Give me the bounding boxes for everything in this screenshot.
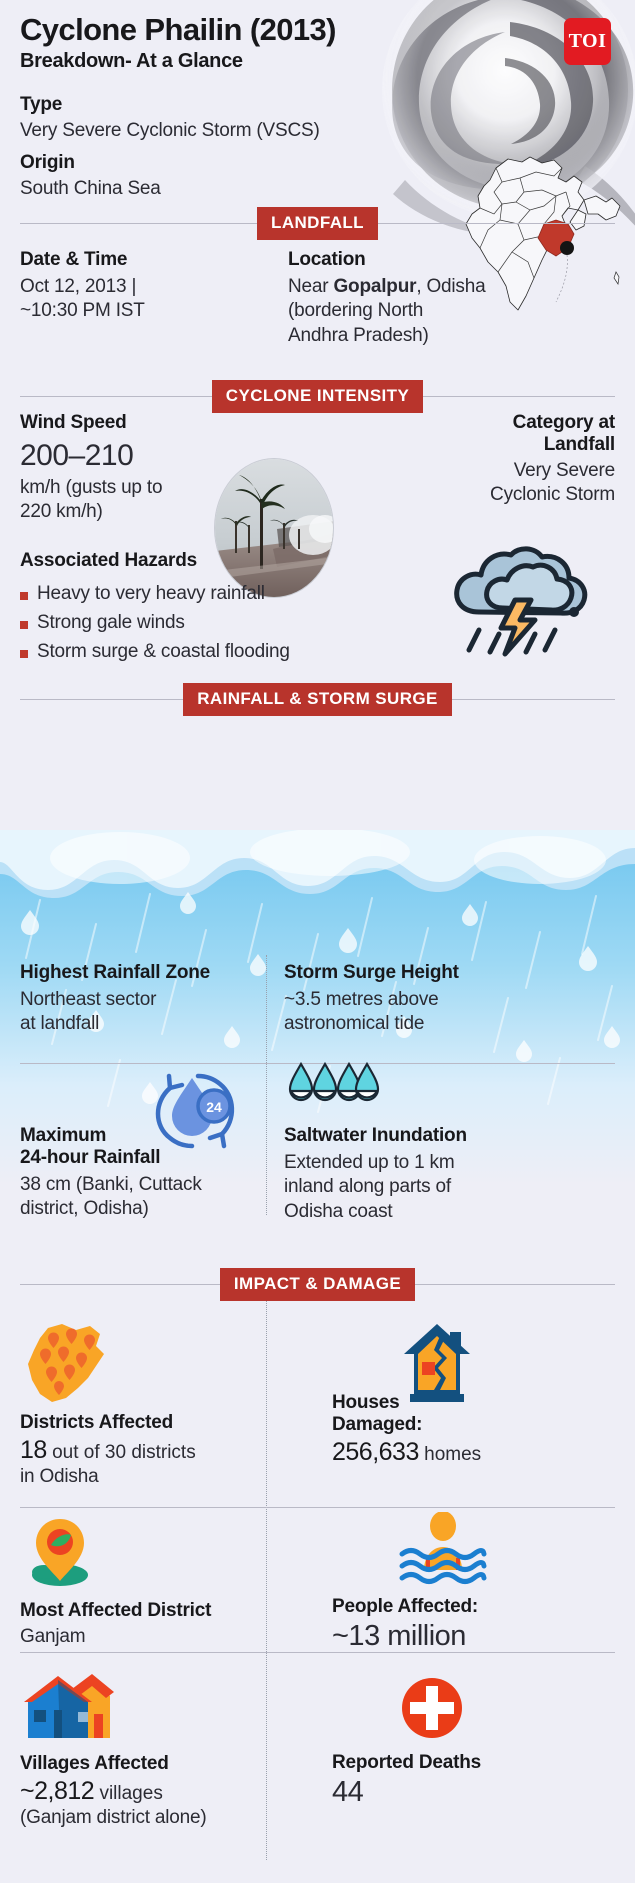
villages-affected-line-2: (Ganjam district alone) bbox=[20, 1806, 275, 1830]
highest-rainfall-zone-line-1: Northeast sector bbox=[20, 988, 250, 1012]
max-rainfall-line-1: 38 cm (Banki, Cuttack bbox=[20, 1173, 260, 1197]
districts-affected-label: Districts Affected bbox=[20, 1412, 265, 1434]
houses-damaged-number: 256,633 bbox=[332, 1438, 419, 1466]
page-title: Cyclone Phailin (2013) bbox=[20, 12, 336, 48]
highest-rainfall-zone-field: Highest Rainfall Zone Northeast sector a… bbox=[20, 962, 250, 1037]
hazard-item: Heavy to very heavy rainfall bbox=[20, 583, 350, 605]
banner-rule-right bbox=[423, 396, 615, 397]
origin-field: Origin South China Sea bbox=[20, 152, 161, 201]
districts-affected-value: 18 out of 30 districts bbox=[20, 1436, 265, 1465]
landfall-marker bbox=[560, 241, 574, 255]
villages-affected-field: Villages Affected ~2,812 villages (Ganja… bbox=[20, 1753, 275, 1830]
highest-rainfall-zone-label: Highest Rainfall Zone bbox=[20, 962, 250, 984]
section-title-rainfall: RAINFALL & STORM SURGE bbox=[183, 683, 452, 716]
banner-rule-right bbox=[415, 1284, 615, 1285]
date-time-line-2: ~10:30 PM IST bbox=[20, 299, 270, 323]
location-line-3: Andhra Pradesh) bbox=[288, 324, 538, 348]
location-city: Gopalpur bbox=[333, 276, 416, 297]
wind-speed-value: 200–210 bbox=[20, 439, 215, 474]
date-time-line-1: Oct 12, 2013 | bbox=[20, 275, 270, 299]
type-field: Type Very Severe Cyclonic Storm (VSCS) bbox=[20, 94, 320, 143]
odisha-districts-map-icon bbox=[22, 1320, 118, 1406]
storm-surge-height-label: Storm Surge Height bbox=[284, 962, 534, 984]
type-label: Type bbox=[20, 94, 320, 116]
origin-label: Origin bbox=[20, 152, 161, 174]
category-label-line-1: Category at bbox=[415, 412, 615, 434]
landfall-location-field: Location Near Gopalpur, Odisha (borderin… bbox=[288, 249, 538, 348]
section-banner-landfall: LANDFALL bbox=[20, 207, 615, 240]
saltwater-droplets-icon bbox=[286, 1060, 382, 1114]
saltwater-label: Saltwater Inundation bbox=[284, 1125, 544, 1147]
banner-rule-left bbox=[20, 396, 212, 397]
toi-logo: TOI bbox=[564, 18, 611, 65]
location-prefix: Near bbox=[288, 276, 333, 297]
people-affected-label: People Affected: bbox=[332, 1596, 592, 1618]
landfall-datetime-field: Date & Time Oct 12, 2013 | ~10:30 PM IST bbox=[20, 249, 270, 324]
rainfall-24h-droplet-icon: 24 bbox=[140, 1062, 250, 1158]
section-title-impact: IMPACT & DAMAGE bbox=[220, 1268, 415, 1301]
origin-value: South China Sea bbox=[20, 177, 161, 201]
wind-speed-field: Wind Speed 200–210 km/h (gusts up to 220… bbox=[20, 412, 215, 524]
villages-affected-label: Villages Affected bbox=[20, 1753, 275, 1775]
wind-speed-unit-line-2: 220 km/h) bbox=[20, 500, 215, 524]
districts-affected-line-2: in Odisha bbox=[20, 1465, 265, 1489]
section-banner-rainfall: RAINFALL & STORM SURGE bbox=[20, 683, 615, 716]
saltwater-line-1: Extended up to 1 km bbox=[284, 1151, 544, 1175]
saltwater-line-3: Odisha coast bbox=[284, 1200, 544, 1224]
medical-cross-icon bbox=[400, 1676, 464, 1740]
people-affected-field: People Affected: ~13 million bbox=[332, 1596, 592, 1653]
location-suffix: , Odisha bbox=[416, 276, 485, 297]
location-line-1: Near Gopalpur, Odisha bbox=[288, 275, 538, 299]
saltwater-line-2: inland along parts of bbox=[284, 1175, 544, 1199]
wind-speed-unit-line-1: km/h (gusts up to bbox=[20, 476, 215, 500]
most-affected-district-value: Ganjam bbox=[20, 1625, 270, 1649]
houses-damaged-value: 256,633 homes bbox=[332, 1438, 582, 1467]
impact-row-divider-1 bbox=[20, 1507, 615, 1508]
districts-affected-rest: out of 30 districts bbox=[47, 1442, 196, 1463]
districts-affected-field: Districts Affected 18 out of 30 district… bbox=[20, 1412, 265, 1489]
reported-deaths-label: Reported Deaths bbox=[332, 1752, 592, 1774]
infographic-page: TOI Cyclone Phailin (2013) Breakdown- At… bbox=[0, 0, 635, 1883]
section-banner-intensity: CYCLONE INTENSITY bbox=[20, 380, 615, 413]
highest-rainfall-zone-line-2: at landfall bbox=[20, 1012, 250, 1036]
banner-rule-left bbox=[20, 223, 257, 224]
category-field: Category at Landfall Very Severe Cycloni… bbox=[415, 412, 615, 508]
storm-surge-line-2: astronomical tide bbox=[284, 1012, 534, 1036]
thunderstorm-cloud-icon bbox=[443, 542, 593, 667]
banner-rule-right bbox=[378, 223, 615, 224]
reported-deaths-field: Reported Deaths 44 bbox=[332, 1752, 592, 1809]
most-affected-district-label: Most Affected District bbox=[20, 1600, 270, 1622]
villages-affected-number: ~2,812 bbox=[20, 1777, 94, 1805]
location-pin-icon bbox=[24, 1515, 98, 1589]
person-in-flood-icon bbox=[396, 1512, 490, 1586]
houses-damaged-unit: homes bbox=[419, 1444, 481, 1465]
most-affected-district-field: Most Affected District Ganjam bbox=[20, 1600, 270, 1649]
houses-damaged-field: Houses Damaged: 256,633 homes bbox=[332, 1392, 582, 1467]
droplet-24-label: 24 bbox=[206, 1099, 222, 1115]
storm-surge-line-1: ~3.5 metres above bbox=[284, 988, 534, 1012]
category-value-line-1: Very Severe bbox=[415, 459, 615, 483]
saltwater-inundation-field: Saltwater Inundation Extended up to 1 km… bbox=[284, 1125, 544, 1224]
type-value: Very Severe Cyclonic Storm (VSCS) bbox=[20, 119, 320, 143]
banner-rule-left bbox=[20, 1284, 220, 1285]
districts-affected-number: 18 bbox=[20, 1436, 47, 1464]
max-rainfall-line-2: district, Odisha) bbox=[20, 1197, 260, 1221]
villages-affected-value: ~2,812 villages bbox=[20, 1777, 275, 1806]
hazard-item: Strong gale winds bbox=[20, 612, 350, 634]
section-title-landfall: LANDFALL bbox=[257, 207, 378, 240]
hazards-list: Heavy to very heavy rainfall Strong gale… bbox=[20, 583, 350, 670]
location-line-2: (bordering North bbox=[288, 299, 538, 323]
date-time-label: Date & Time bbox=[20, 249, 270, 271]
section-banner-impact: IMPACT & DAMAGE bbox=[20, 1268, 615, 1301]
category-label-line-2: Landfall bbox=[415, 434, 615, 456]
hazards-label: Associated Hazards bbox=[20, 550, 197, 572]
reported-deaths-value: 44 bbox=[332, 1776, 592, 1809]
hazard-item: Storm surge & coastal flooding bbox=[20, 641, 350, 663]
houses-damaged-label-line-1: Houses bbox=[332, 1392, 582, 1414]
banner-rule-left bbox=[20, 699, 183, 700]
storm-photo bbox=[214, 458, 334, 598]
wind-speed-label: Wind Speed bbox=[20, 412, 215, 434]
people-affected-value: ~13 million bbox=[332, 1620, 592, 1653]
page-subtitle: Breakdown- At a Glance bbox=[20, 50, 243, 73]
banner-rule-right bbox=[452, 699, 615, 700]
category-value-line-2: Cyclonic Storm bbox=[415, 483, 615, 507]
houses-damaged-label-line-2: Damaged: bbox=[332, 1414, 582, 1436]
section-title-intensity: CYCLONE INTENSITY bbox=[212, 380, 423, 413]
rainfall-column-divider bbox=[266, 955, 267, 1215]
storm-surge-height-field: Storm Surge Height ~3.5 metres above ast… bbox=[284, 962, 534, 1037]
village-houses-icon bbox=[20, 1672, 114, 1746]
villages-affected-unit: villages bbox=[94, 1783, 163, 1804]
location-label: Location bbox=[288, 249, 538, 271]
